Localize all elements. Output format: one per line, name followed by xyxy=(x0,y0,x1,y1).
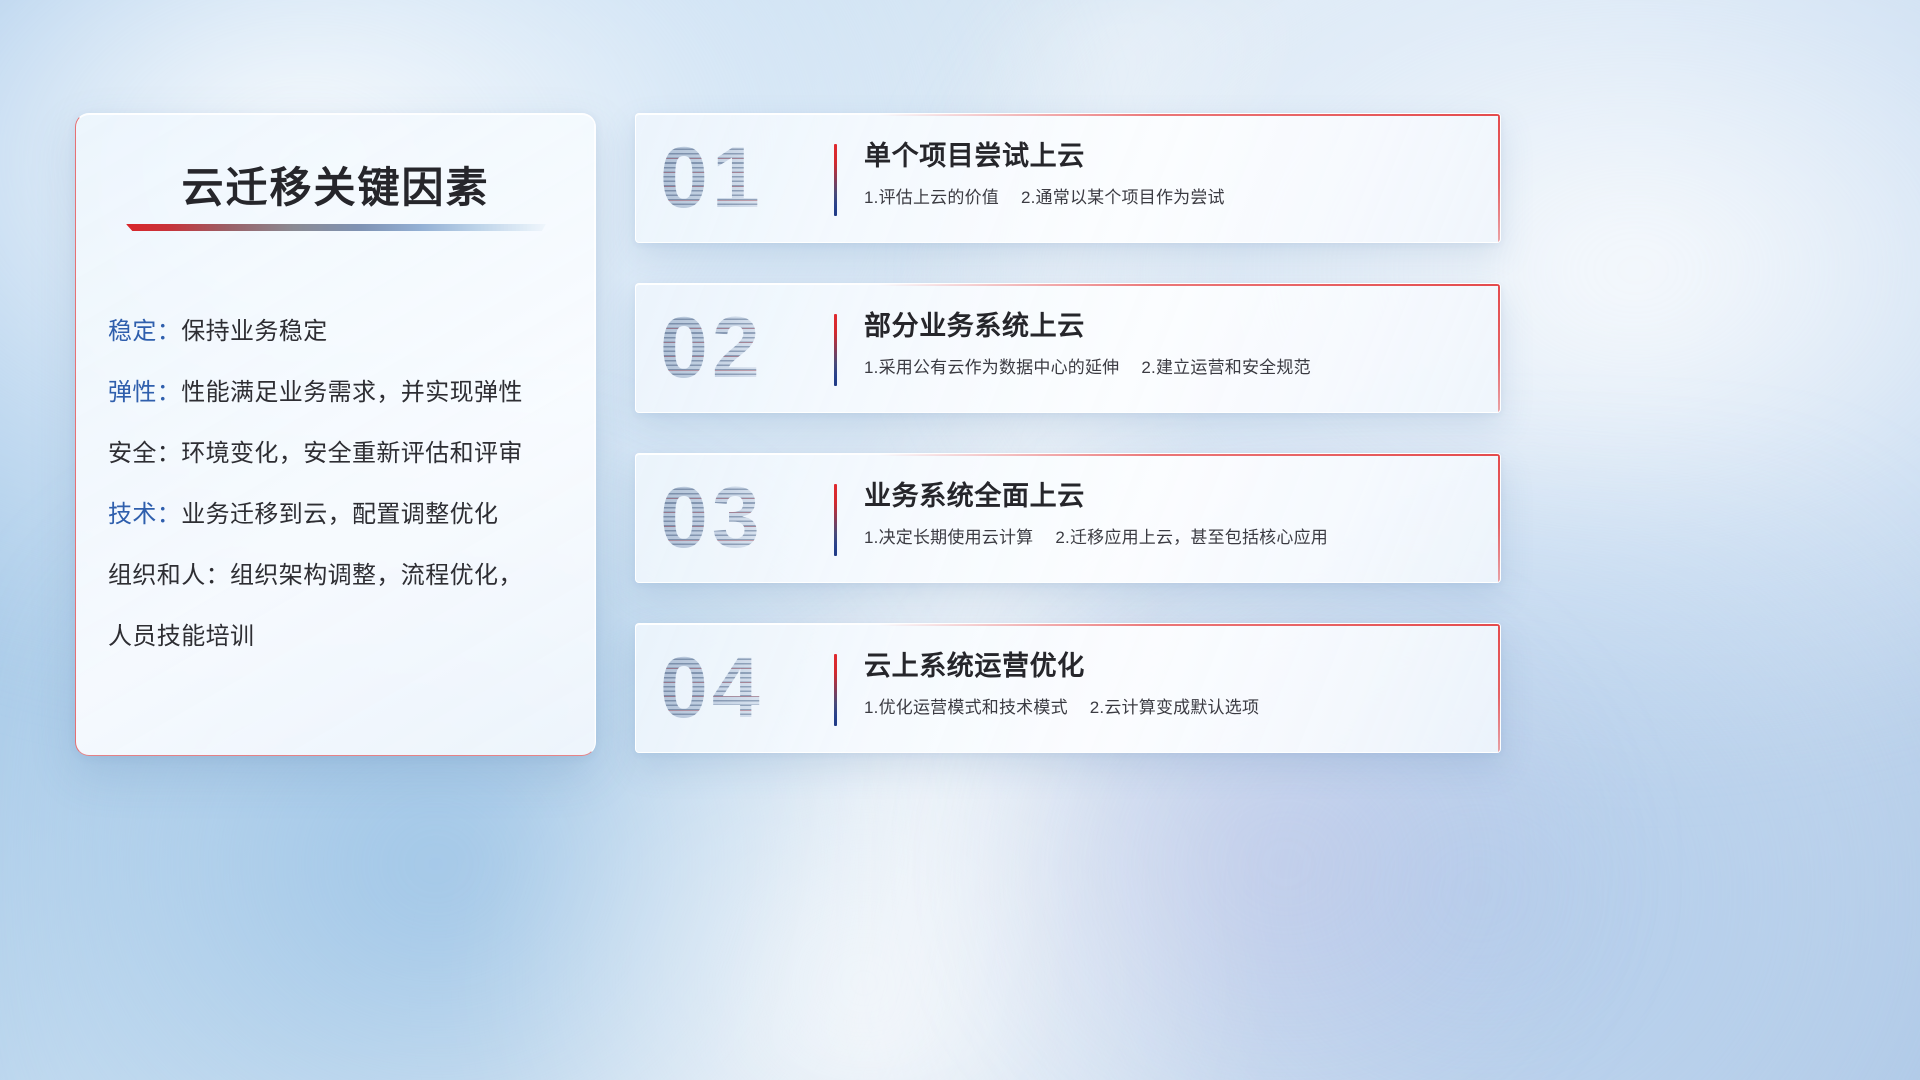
slide-content: 云迁移关键因素 稳定：保持业务稳定 弹性：性能满足业务需求，并实现弹性 安全：环… xyxy=(0,0,1920,1080)
stage-title: 业务系统全面上云 xyxy=(864,478,1478,514)
title-underline-accent xyxy=(126,224,546,231)
stage-body: 云上系统运营优化 1.优化运营模式和技术模式2.云计算变成默认选项 xyxy=(864,648,1478,720)
stage-title: 单个项目尝试上云 xyxy=(864,138,1478,174)
stage-subtitle: 1.采用公有云作为数据中心的延伸2.建立运营和安全规范 xyxy=(864,356,1478,380)
key-factors-panel: 云迁移关键因素 稳定：保持业务稳定 弹性：性能满足业务需求，并实现弹性 安全：环… xyxy=(75,113,596,756)
factor-item-stability: 稳定：保持业务稳定 xyxy=(108,301,571,362)
factor-item-elasticity: 弹性：性能满足业务需求，并实现弹性 xyxy=(108,362,571,423)
stage-card-03[interactable]: 03 03 业务系统全面上云 1.决定长期使用云计算2.迁移应用上云，甚至包括核… xyxy=(635,453,1501,583)
stage-accent-bar xyxy=(834,144,837,216)
stage-point-2: 2.通常以某个项目作为尝试 xyxy=(1021,188,1225,207)
stage-body: 部分业务系统上云 1.采用公有云作为数据中心的延伸2.建立运营和安全规范 xyxy=(864,308,1478,380)
stage-point-1: 1.决定长期使用云计算 xyxy=(864,528,1033,547)
stage-body: 单个项目尝试上云 1.评估上云的价值2.通常以某个项目作为尝试 xyxy=(864,138,1478,210)
factor-text: 人员技能培训 xyxy=(108,623,254,650)
stage-subtitle: 1.决定长期使用云计算2.迁移应用上云，甚至包括核心应用 xyxy=(864,526,1478,550)
stage-point-2: 2.建立运营和安全规范 xyxy=(1141,358,1310,377)
stage-point-2: 2.迁移应用上云，甚至包括核心应用 xyxy=(1055,528,1328,547)
stage-card-04[interactable]: 04 04 云上系统运营优化 1.优化运营模式和技术模式2.云计算变成默认选项 xyxy=(635,623,1501,753)
factor-label: 安全： xyxy=(108,440,181,467)
stage-title: 云上系统运营优化 xyxy=(864,648,1478,684)
stage-point-2: 2.云计算变成默认选项 xyxy=(1090,698,1259,717)
factor-label: 技术： xyxy=(108,501,181,528)
factor-label: 弹性： xyxy=(108,379,181,406)
factor-text: 组织架构调整，流程优化， xyxy=(230,562,523,589)
factor-text: 业务迁移到云，配置调整优化 xyxy=(181,501,498,528)
stage-number-ghost: 03 xyxy=(660,470,830,566)
stage-point-1: 1.采用公有云作为数据中心的延伸 xyxy=(864,358,1119,377)
migration-stages-list: 01 01 单个项目尝试上云 1.评估上云的价值2.通常以某个项目作为尝试 02… xyxy=(635,113,1501,753)
stage-subtitle: 1.评估上云的价值2.通常以某个项目作为尝试 xyxy=(864,186,1478,210)
stage-accent-bar xyxy=(834,314,837,386)
panel-title: 云迁移关键因素 xyxy=(76,154,595,215)
factor-text: 环境变化，安全重新评估和评审 xyxy=(181,440,523,467)
factor-text: 性能满足业务需求，并实现弹性 xyxy=(181,379,523,406)
factor-item-organization-continued: 人员技能培训 xyxy=(108,606,571,667)
stage-number-ghost: 01 xyxy=(660,130,830,226)
stage-subtitle: 1.优化运营模式和技术模式2.云计算变成默认选项 xyxy=(864,696,1478,720)
factor-text: 保持业务稳定 xyxy=(181,318,327,345)
stage-title: 部分业务系统上云 xyxy=(864,308,1478,344)
stage-point-1: 1.评估上云的价值 xyxy=(864,188,999,207)
factor-label: 组织和人： xyxy=(108,562,230,589)
stage-number-ghost: 02 xyxy=(660,300,830,396)
factor-item-security: 安全：环境变化，安全重新评估和评审 xyxy=(108,423,571,484)
stage-number-ghost: 04 xyxy=(660,640,830,736)
factor-label: 稳定： xyxy=(108,318,181,345)
stage-card-01[interactable]: 01 01 单个项目尝试上云 1.评估上云的价值2.通常以某个项目作为尝试 xyxy=(635,113,1501,243)
stage-card-02[interactable]: 02 02 部分业务系统上云 1.采用公有云作为数据中心的延伸2.建立运营和安全… xyxy=(635,283,1501,413)
key-factors-list: 稳定：保持业务稳定 弹性：性能满足业务需求，并实现弹性 安全：环境变化，安全重新… xyxy=(108,301,571,667)
factor-item-organization: 组织和人：组织架构调整，流程优化， xyxy=(108,545,571,606)
stage-point-1: 1.优化运营模式和技术模式 xyxy=(864,698,1068,717)
stage-accent-bar xyxy=(834,484,837,556)
factor-item-technology: 技术：业务迁移到云，配置调整优化 xyxy=(108,484,571,545)
stage-body: 业务系统全面上云 1.决定长期使用云计算2.迁移应用上云，甚至包括核心应用 xyxy=(864,478,1478,550)
stage-accent-bar xyxy=(834,654,837,726)
